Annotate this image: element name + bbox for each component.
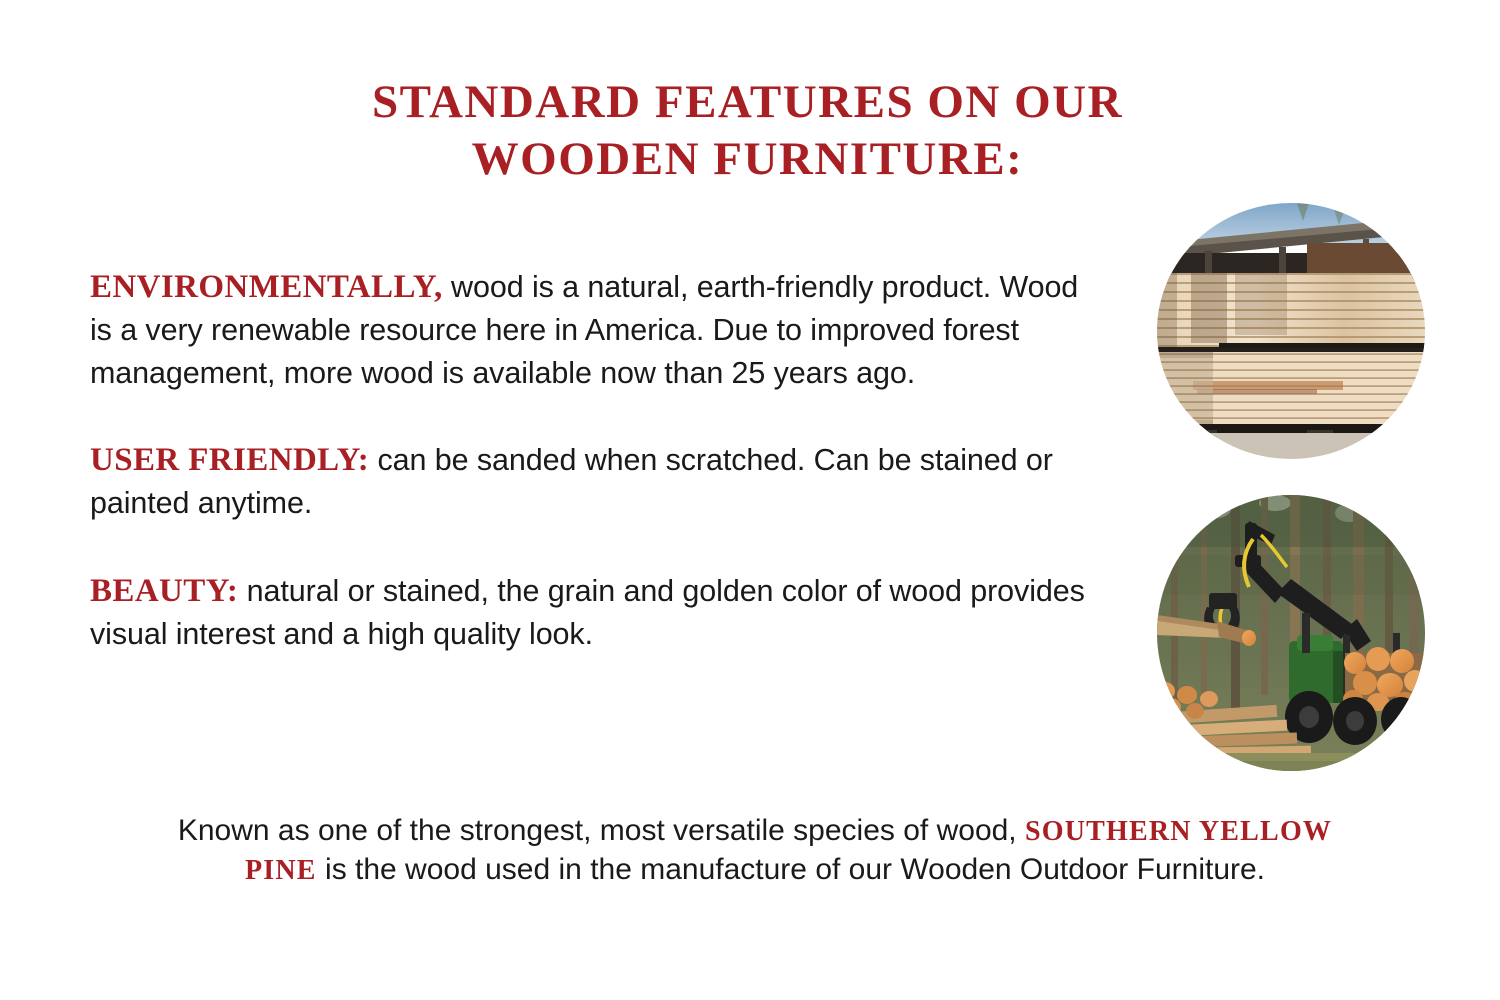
forestry-forwarder-graphic	[1157, 495, 1425, 771]
title-line-2: WOODEN FURNITURE:	[120, 131, 1375, 188]
footer-text-part2: is the wood used in the manufacture of o…	[317, 853, 1265, 886]
feature-environmentally: ENVIRONMENTALLY, wood is a natural, eart…	[90, 266, 1105, 395]
footer-text-part1: Known as one of the strongest, most vers…	[178, 814, 1025, 847]
features-list: ENVIRONMENTALLY, wood is a natural, eart…	[90, 266, 1110, 656]
feature-lead-environmentally: ENVIRONMENTALLY,	[90, 269, 443, 305]
feature-lead-beauty: BEAUTY:	[90, 573, 238, 609]
footer-statement: Known as one of the strongest, most vers…	[150, 812, 1360, 890]
title-line-1: STANDARD FEATURES ON OUR	[120, 74, 1375, 131]
feature-user-friendly: USER FRIENDLY: can be sanded when scratc…	[90, 439, 1105, 525]
feature-beauty: BEAUTY: natural or stained, the grain an…	[90, 570, 1090, 656]
page-title: STANDARD FEATURES ON OUR WOODEN FURNITUR…	[120, 74, 1375, 188]
lumber-stack-photo	[1157, 203, 1425, 459]
feature-lead-user-friendly: USER FRIENDLY:	[90, 442, 369, 478]
right-edge-mask	[1425, 180, 1500, 800]
forestry-forwarder-photo	[1157, 495, 1425, 771]
poster-canvas: STANDARD FEATURES ON OUR WOODEN FURNITUR…	[0, 0, 1500, 1000]
lumber-stack-graphic	[1157, 203, 1425, 459]
feature-body-beauty: natural or stained, the grain and golden…	[90, 574, 1085, 651]
